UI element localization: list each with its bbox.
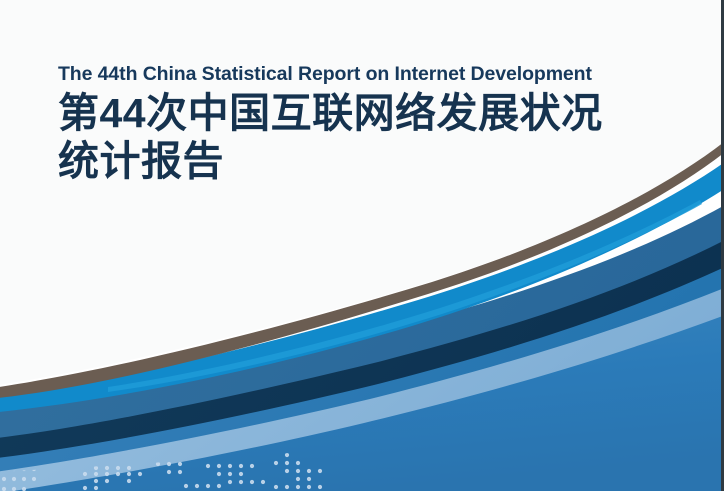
title-chinese-line-2: 统计报告 bbox=[58, 138, 224, 184]
title-chinese: 第44次中国互联网络发展状况统计报告 bbox=[58, 90, 618, 186]
title-chinese-line-1: 第44次中国互联网络发展状况 bbox=[58, 90, 603, 136]
title-english: The 44th China Statistical Report on Int… bbox=[58, 62, 618, 86]
report-cover-page: The 44th China Statistical Report on Int… bbox=[0, 0, 724, 491]
cover-title-block: The 44th China Statistical Report on Int… bbox=[58, 62, 618, 186]
